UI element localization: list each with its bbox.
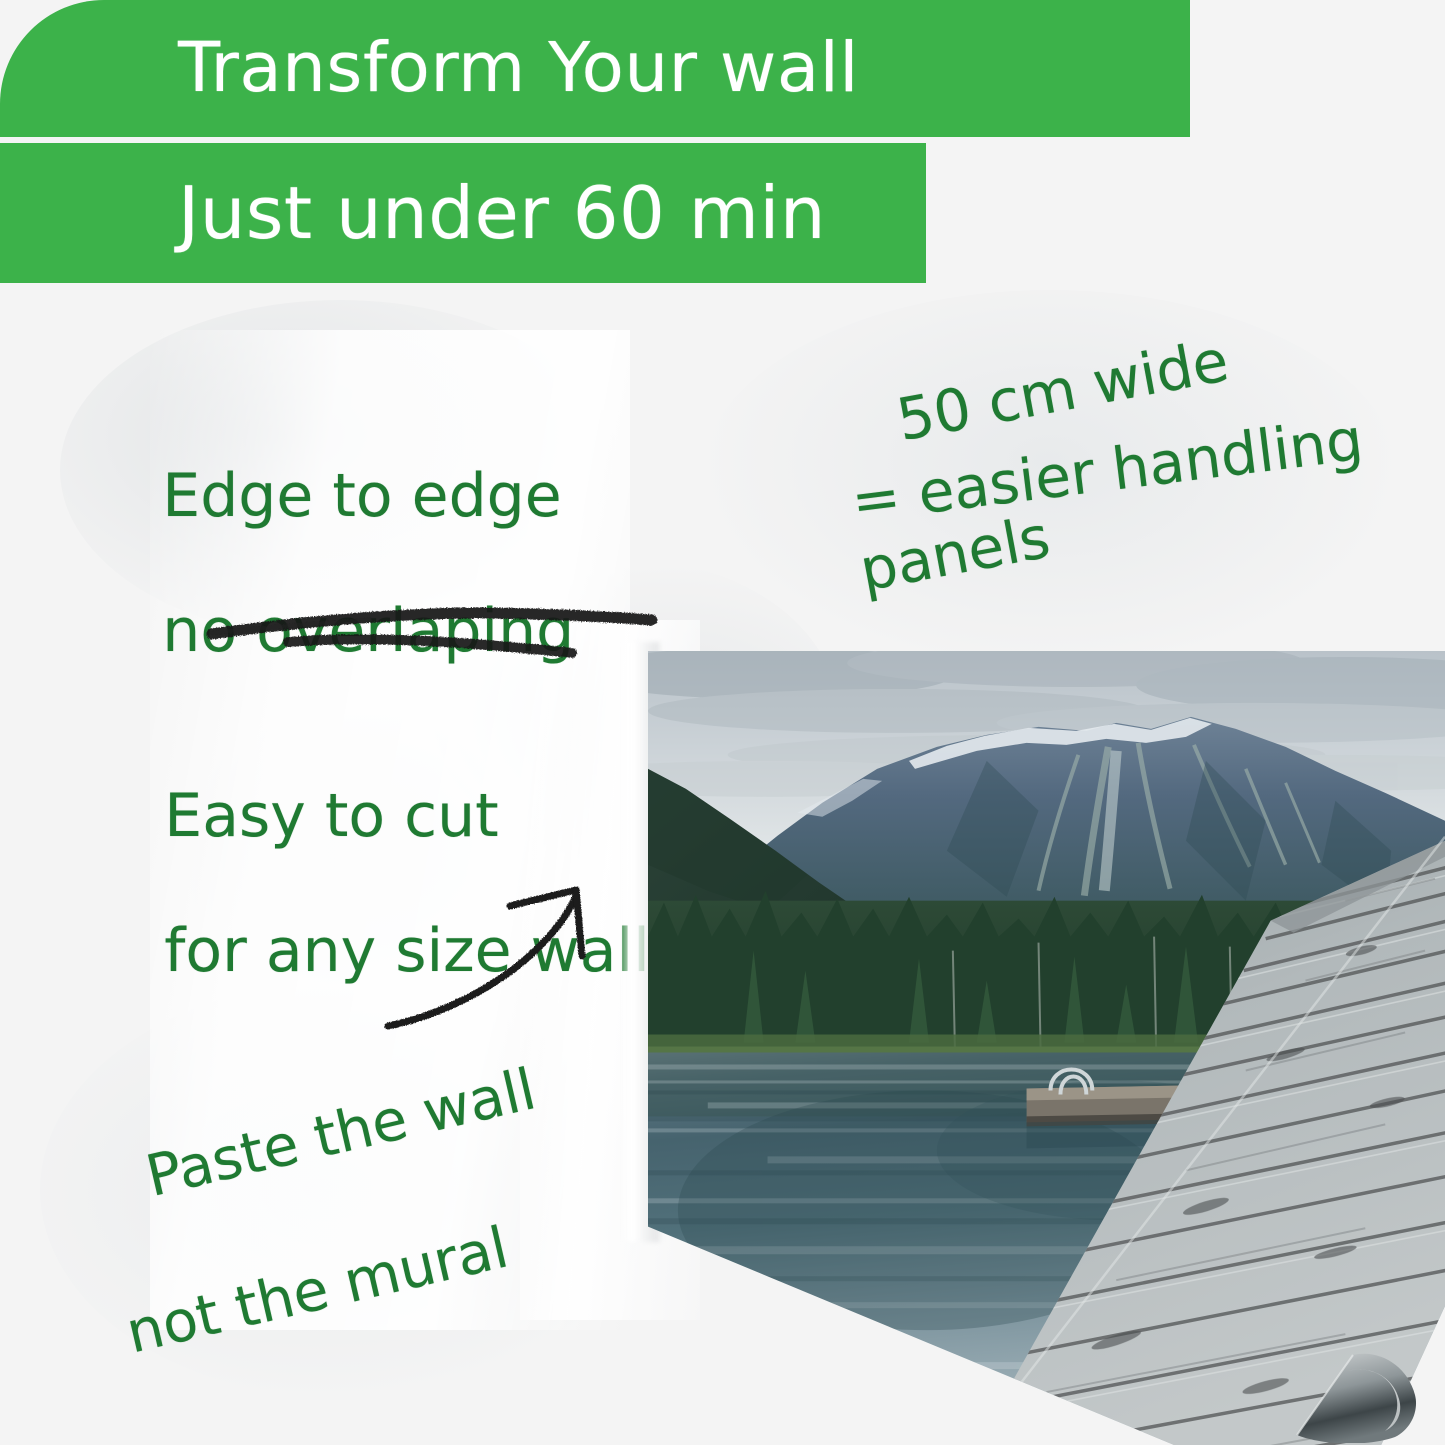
headline-banner-primary-text: Transform Your wall — [178, 34, 859, 103]
feature-note-easy-to-cut: Easy to cut for any size wall — [88, 716, 650, 1052]
headline-banner-secondary: Just under 60 min — [0, 143, 926, 283]
mural-photo-panel — [618, 634, 1445, 1445]
headline-banner-primary: Transform Your wall — [0, 0, 1190, 137]
feature-note-edge-to-edge-line2: no overlaping — [162, 596, 574, 666]
feature-note-easy-to-cut-line2: for any size wall — [164, 916, 650, 986]
feature-note-easy-to-cut-line1: Easy to cut — [164, 781, 498, 851]
feature-note-paste-the-wall-line1: Paste the wall — [140, 1057, 542, 1211]
headline-banner-secondary-text: Just under 60 min — [178, 177, 826, 249]
feature-note-paste-the-wall-line2: not the mural — [102, 1197, 576, 1375]
feature-note-edge-to-edge-line1: Edge to edge — [162, 461, 561, 531]
mural-photo-image — [648, 651, 1445, 1445]
lake-dock-photograph — [648, 651, 1445, 1445]
infographic-canvas: Transform Your wall Just under 60 min Ed… — [0, 0, 1445, 1445]
feature-note-edge-to-edge: Edge to edge no overlaping — [86, 396, 574, 732]
